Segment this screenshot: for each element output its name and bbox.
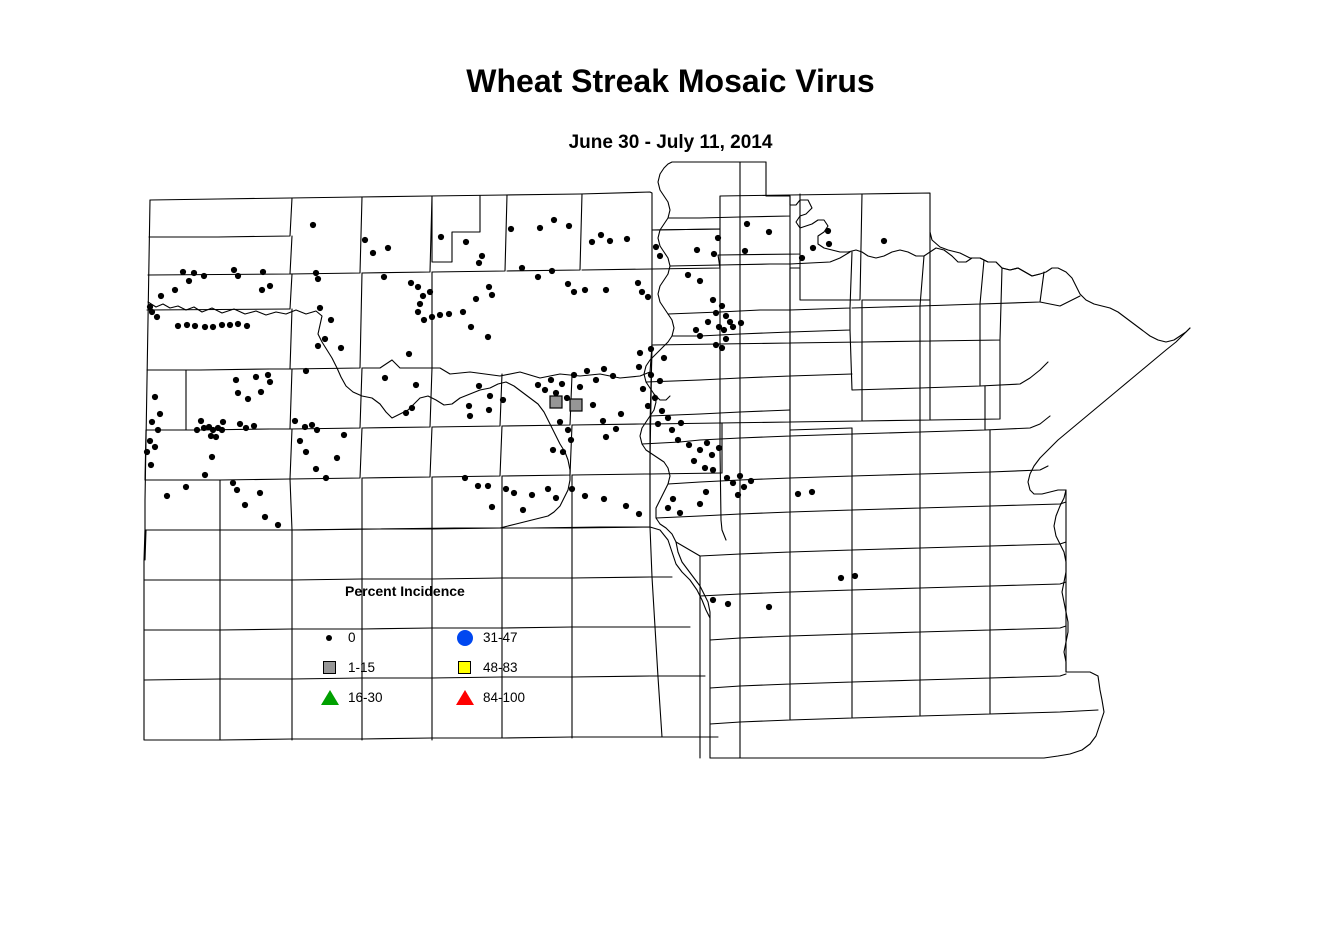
map-point-0 [322,336,328,342]
state-county-map [0,0,1341,926]
map-point-0 [593,377,599,383]
map-point-0 [198,418,204,424]
map-point-0 [565,427,571,433]
map-point-0 [665,505,671,511]
map-point-0 [251,423,257,429]
map-point-0 [825,228,831,234]
map-point-0 [713,342,719,348]
map-point-0 [500,397,506,403]
map-point-0 [475,483,481,489]
map-point-0 [417,301,423,307]
map-point-0 [737,473,743,479]
map-point-0 [810,245,816,251]
map-point-0 [381,274,387,280]
map-point-0 [545,486,551,492]
map-point-0 [186,278,192,284]
map-point-0 [721,327,727,333]
map-point-0 [703,489,709,495]
map-point-0 [155,427,161,433]
map-point-0 [487,393,493,399]
map-point-0 [686,442,692,448]
map-point-0 [520,507,526,513]
map-point-0 [589,239,595,245]
map-point-0 [553,495,559,501]
map-point-0 [571,372,577,378]
legend-label: 48-83 [483,660,518,675]
map-point-0 [582,287,588,293]
map-point-0 [467,413,473,419]
map-point-0 [237,421,243,427]
map-point-0 [147,438,153,444]
map-point-0 [202,324,208,330]
map-point-0 [838,575,844,581]
map-point-0 [309,422,315,428]
map-point-0 [744,221,750,227]
map-point-0 [710,467,716,473]
map-point-0 [314,427,320,433]
map-point-0 [577,384,583,390]
map-point-0 [529,492,535,498]
map-point-0 [468,324,474,330]
map-point-0 [157,411,163,417]
map-point-0 [710,597,716,603]
map-point-0 [479,253,485,259]
county-boundaries [144,162,1190,758]
map-point-0 [852,573,858,579]
map-point-0 [636,511,642,517]
map-point-0 [557,419,563,425]
map-point-0 [315,343,321,349]
map-point-0 [317,305,323,311]
map-point-0 [259,287,265,293]
map-point-0 [519,265,525,271]
map-point-0 [148,462,154,468]
map-point-0 [697,447,703,453]
map-point-0 [231,267,237,273]
map-point-0 [244,323,250,329]
map-point-0 [427,289,433,295]
map-point-0 [550,447,556,453]
map-point-0 [795,491,801,497]
map-point-0 [503,486,509,492]
map-point-0 [613,426,619,432]
map-point-0 [730,480,736,486]
map-point-0 [568,437,574,443]
legend: Percent Incidence 01-1516-3031-4748-8384… [320,583,580,713]
map-point-0 [713,310,719,316]
map-point-0 [292,418,298,424]
map-point-0 [362,237,368,243]
map-point-0 [635,280,641,286]
map-point-0 [565,281,571,287]
map-point-0 [697,278,703,284]
map-point-0 [152,444,158,450]
map-point-0 [415,309,421,315]
map-point-0 [420,293,426,299]
map-point-0 [735,492,741,498]
map-point-0 [693,327,699,333]
map-point-0 [710,297,716,303]
map-point-0 [460,309,466,315]
map-point-0 [230,480,236,486]
map-point-1-15 [570,399,582,411]
map-point-0 [636,364,642,370]
map-point-0 [584,368,590,374]
map-point-0 [675,437,681,443]
map-point-0 [429,314,435,320]
map-point-0 [267,283,273,289]
map-point-0 [648,346,654,352]
map-point-0 [640,386,646,392]
map-point-0 [719,345,725,351]
map-point-0 [601,366,607,372]
map-point-0 [466,403,472,409]
map-point-0 [183,484,189,490]
map-point-0 [738,320,744,326]
map-point-0 [219,322,225,328]
map-point-0 [549,268,555,274]
legend-symbol-circle-icon [455,629,475,647]
map-point-0 [421,317,427,323]
map-point-0 [260,269,266,275]
map-point-0 [152,394,158,400]
map-point-0 [881,238,887,244]
map-point-0 [149,309,155,315]
map-point-0 [559,381,565,387]
map-point-0 [462,475,468,481]
map-point-0 [645,294,651,300]
map-point-0 [164,493,170,499]
map-point-0 [715,235,721,241]
map-point-0 [799,255,805,261]
map-point-0 [489,292,495,298]
map-point-1-15 [550,396,562,408]
map-point-0 [607,238,613,244]
map-point-0 [406,351,412,357]
map-point-0 [655,421,661,427]
map-point-0 [694,247,700,253]
map-point-0 [262,514,268,520]
map-point-0 [511,490,517,496]
map-point-0 [603,287,609,293]
map-point-0 [719,303,725,309]
map-point-0 [489,504,495,510]
map-point-0 [313,270,319,276]
map-point-0 [582,493,588,499]
map-canvas [0,0,1341,926]
map-point-0 [590,402,596,408]
map-point-0 [741,484,747,490]
map-point-0 [409,405,415,411]
map-point-0 [730,324,736,330]
map-point-0 [535,274,541,280]
map-point-0 [709,452,715,458]
map-point-0 [382,375,388,381]
map-point-0 [657,253,663,259]
map-point-0 [826,241,832,247]
map-point-0 [275,522,281,528]
map-point-0 [486,284,492,290]
map-point-0 [158,293,164,299]
map-point-0 [242,502,248,508]
map-point-0 [413,382,419,388]
map-point-0 [154,314,160,320]
map-point-0 [257,490,263,496]
map-point-0 [258,389,264,395]
map-point-0 [702,465,708,471]
map-point-0 [245,396,251,402]
map-point-0 [566,223,572,229]
map-point-0 [678,420,684,426]
map-point-0 [303,368,309,374]
map-point-0 [485,334,491,340]
map-point-0 [334,455,340,461]
map-point-0 [476,260,482,266]
map-point-0 [235,273,241,279]
map-point-0 [748,478,754,484]
legend-symbol-triangle-icon [455,689,475,707]
map-point-0 [194,427,200,433]
legend-title: Percent Incidence [345,583,465,599]
map-point-0 [227,322,233,328]
map-point-0 [415,284,421,290]
map-point-0 [149,419,155,425]
legend-symbol-square-icon [455,659,475,677]
map-point-0 [723,336,729,342]
map-point-0 [213,434,219,440]
map-point-0 [653,244,659,250]
map-point-0 [202,472,208,478]
map-point-0 [766,229,772,235]
map-point-0 [385,245,391,251]
map-point-0 [618,411,624,417]
map-point-0 [659,408,665,414]
map-point-0 [601,496,607,502]
map-point-0 [219,427,225,433]
map-point-0 [766,604,772,610]
map-point-0 [624,236,630,242]
map-point-0 [600,418,606,424]
map-point-0 [235,321,241,327]
map-point-0 [192,323,198,329]
map-point-0 [175,323,181,329]
map-point-0 [341,432,347,438]
map-page: Wheat Streak Mosaic Virus June 30 - July… [0,0,1341,926]
map-point-0 [669,427,675,433]
map-point-0 [677,510,683,516]
map-point-0 [233,377,239,383]
map-point-0 [742,248,748,254]
map-point-0 [697,501,703,507]
map-point-0 [564,395,570,401]
map-point-0 [551,217,557,223]
map-point-0 [537,225,543,231]
map-point-0 [639,289,645,295]
map-point-0 [637,350,643,356]
map-point-0 [685,272,691,278]
map-point-0 [486,407,492,413]
map-point-0 [652,395,658,401]
map-point-0 [172,287,178,293]
map-point-0 [645,403,651,409]
map-point-0 [338,345,344,351]
map-point-0 [315,276,321,282]
map-point-0 [711,251,717,257]
map-point-0 [438,234,444,240]
map-point-0 [598,232,604,238]
map-point-0 [265,372,271,378]
map-point-0 [661,355,667,361]
map-point-0 [297,438,303,444]
map-point-0 [553,390,559,396]
map-point-0 [665,415,671,421]
legend-label: 0 [348,630,356,645]
legend-label: 16-30 [348,690,383,705]
map-point-0 [657,378,663,384]
map-point-0 [243,425,249,431]
map-point-0 [571,289,577,295]
map-point-0 [437,312,443,318]
map-point-0 [723,313,729,319]
map-point-0 [328,317,334,323]
map-point-0 [267,379,273,385]
map-point-0 [180,269,186,275]
map-point-0 [691,458,697,464]
map-point-0 [323,475,329,481]
map-point-0 [191,270,197,276]
legend-label: 1-15 [348,660,375,675]
map-point-0 [310,222,316,228]
map-point-0 [548,377,554,383]
map-point-0 [704,440,710,446]
map-point-0 [508,226,514,232]
map-point-0 [705,319,711,325]
map-point-0 [603,434,609,440]
legend-label: 84-100 [483,690,525,705]
map-point-0 [370,250,376,256]
map-point-0 [697,333,703,339]
map-point-0 [446,311,452,317]
map-point-0 [476,383,482,389]
map-point-0 [670,496,676,502]
map-point-0 [234,487,240,493]
map-point-0 [809,489,815,495]
map-point-0 [542,387,548,393]
map-point-0 [201,273,207,279]
map-point-0 [210,324,216,330]
map-point-0 [209,454,215,460]
map-point-0 [303,449,309,455]
map-point-0 [569,486,575,492]
map-point-0 [184,322,190,328]
legend-label: 31-47 [483,630,518,645]
incidence-points [144,217,887,610]
map-point-0 [560,449,566,455]
map-point-0 [473,296,479,302]
legend-symbol-triangle-icon [320,689,340,707]
map-point-0 [235,390,241,396]
map-point-0 [648,372,654,378]
map-point-0 [623,503,629,509]
map-point-0 [403,410,409,416]
map-point-0 [253,374,259,380]
map-point-0 [725,601,731,607]
map-point-0 [485,483,491,489]
map-point-0 [535,382,541,388]
map-point-0 [408,280,414,286]
map-point-0 [610,373,616,379]
map-point-0 [313,466,319,472]
map-point-0 [144,449,150,455]
map-point-0 [220,419,226,425]
legend-symbol-square-icon [320,659,340,677]
map-point-0 [716,445,722,451]
map-point-0 [302,424,308,430]
legend-symbol-dot-icon [320,629,340,647]
map-point-0 [724,475,730,481]
map-point-0 [463,239,469,245]
